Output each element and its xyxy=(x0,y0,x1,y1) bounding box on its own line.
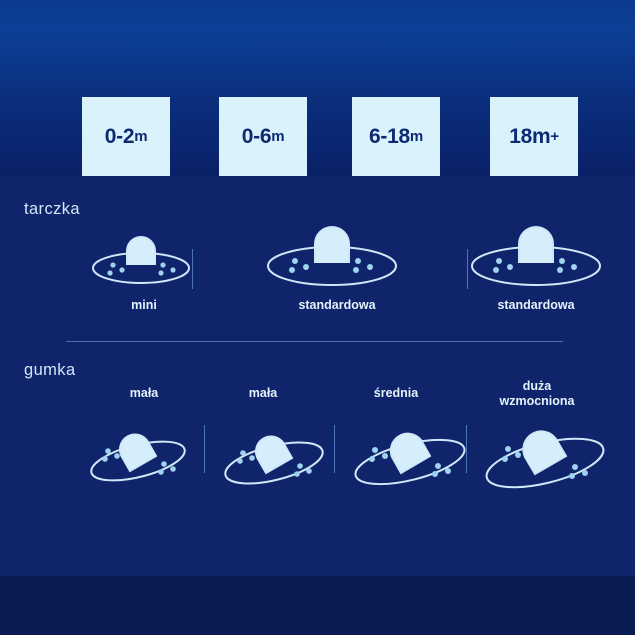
age-chip-value: 18m xyxy=(509,125,550,149)
age-chip-unit: m xyxy=(134,128,147,145)
section-label-tarczka: tarczka xyxy=(24,200,80,219)
age-chip-unit: m xyxy=(410,128,423,145)
age-chip-6-18m: 6-18m xyxy=(352,97,440,176)
teat-figure-duza-wzmocniona xyxy=(472,410,618,500)
caption-tarczka-1: mini xyxy=(96,298,192,313)
divider-horizontal xyxy=(66,341,563,342)
shield-figure-standardowa-2 xyxy=(457,212,615,292)
divider-vertical-4 xyxy=(334,425,335,473)
caption-gumka-4: duża wzmocniona xyxy=(484,379,590,409)
section-label-gumka: gumka xyxy=(24,361,76,380)
age-chip-0-6m: 0-6m xyxy=(219,97,307,176)
teat-figure-mala-2 xyxy=(208,415,340,495)
divider-vertical-3 xyxy=(204,425,205,473)
age-chip-18m-plus: 18m+ xyxy=(490,97,578,176)
caption-gumka-1: mała xyxy=(96,386,192,401)
age-chip-value: 6-18 xyxy=(369,125,410,149)
infographic-root: 0-2m 0-6m 6-18m 18m+ tarczka mini standa… xyxy=(0,0,635,635)
shield-figure-standardowa-1 xyxy=(253,212,411,292)
age-chip-unit: + xyxy=(550,128,558,145)
age-chip-value: 0-6 xyxy=(242,125,271,149)
caption-gumka-2: mała xyxy=(215,386,311,401)
divider-vertical-1 xyxy=(192,249,193,289)
background-band-bottom xyxy=(0,576,635,635)
caption-tarczka-3: standardowa xyxy=(483,298,589,313)
teat-figure-mala-1 xyxy=(72,415,204,491)
caption-tarczka-2: standardowa xyxy=(284,298,390,313)
age-chip-value: 0-2 xyxy=(105,125,134,149)
shield-figure-mini xyxy=(70,218,220,290)
age-chip-unit: m xyxy=(271,128,284,145)
age-chip-0-2m: 0-2m xyxy=(82,97,170,176)
divider-vertical-5 xyxy=(466,425,467,473)
divider-vertical-2 xyxy=(467,249,468,289)
caption-gumka-3: średnia xyxy=(348,386,444,401)
teat-figure-srednia xyxy=(340,412,480,496)
